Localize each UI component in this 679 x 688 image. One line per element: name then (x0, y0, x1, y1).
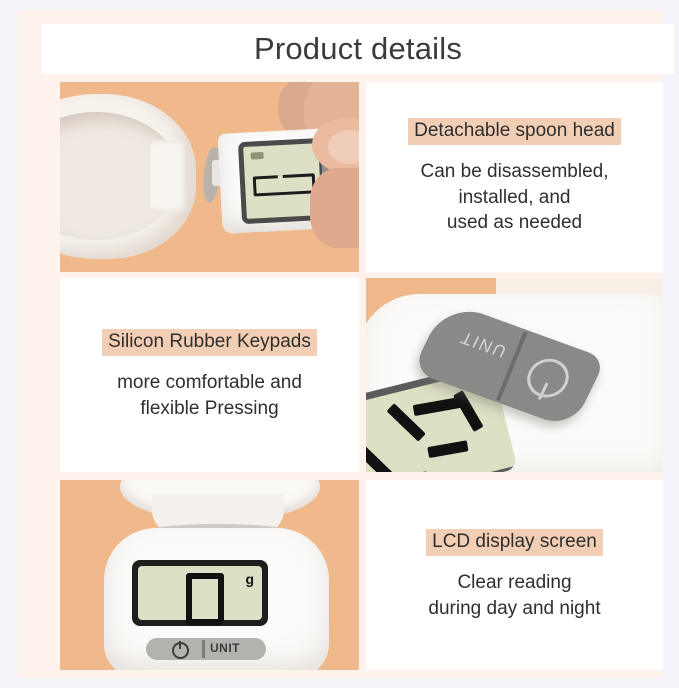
content-card: Product details Detachable (18, 10, 662, 678)
power-icon-bar (538, 383, 549, 400)
panel-1-body: Can be disassembled, installed, and used… (421, 159, 609, 236)
panel-3-heading: LCD display screen (426, 529, 603, 556)
panel-3-photo-lcd-display: g UNIT (60, 480, 359, 670)
lcd-segment (366, 444, 395, 472)
panel-2-heading: Silicon Rubber Keypads (102, 329, 317, 356)
lcd-dash-segments (253, 173, 316, 196)
palm (310, 168, 359, 248)
power-icon-bar (179, 641, 181, 649)
lcd-segment (453, 390, 484, 432)
panel-2-text: Silicon Rubber Keypads more comfortable … (60, 278, 359, 472)
keypad-bar: UNIT (146, 638, 266, 660)
lcd-indicator-icon (250, 152, 263, 160)
panel-1-heading: Detachable spoon head (408, 118, 621, 145)
lcd-segment (389, 471, 428, 472)
power-icon (520, 353, 575, 403)
panel-2-photo-rubber-keypad: UNIT (366, 278, 663, 472)
panel-1-body-line-2: installed, and (421, 185, 609, 211)
panel-3-body: Clear reading during day and night (428, 570, 600, 621)
lcd-dash-gap (278, 175, 284, 189)
panel-1-text: Detachable spoon head Can be disassemble… (366, 82, 663, 272)
title-band: Product details (42, 24, 674, 74)
lcd-segment (427, 440, 468, 458)
lcd-unit-gram: g (245, 571, 254, 587)
panel-2-body-line-2: flexible Pressing (117, 396, 302, 422)
spoon-bowl-connector-tab (150, 140, 188, 212)
panel-3-body-line-2: during day and night (428, 596, 600, 622)
panel-1-body-line-1: Can be disassembled, (421, 159, 609, 185)
panel-1-body-line-3: used as needed (421, 210, 609, 236)
lcd-screen-panel-3: g (138, 566, 262, 620)
unit-button-label: UNIT (210, 641, 240, 655)
infographic-page: Product details Detachable (0, 0, 679, 688)
power-icon (172, 642, 189, 659)
panel-2-body: more comfortable and flexible Pressing (117, 370, 302, 421)
page-title: Product details (42, 24, 674, 74)
lcd-digit-zero (186, 573, 224, 625)
keypad-divider (202, 640, 205, 658)
panel-3-body-line-1: Clear reading (428, 570, 600, 596)
panel-2-body-line-1: more comfortable and (117, 370, 302, 396)
lcd-bezel-panel-3: g (132, 560, 268, 626)
panel-1-photo-detachable-spoon-head (60, 82, 359, 272)
panel-3-text: LCD display screen Clear reading during … (366, 480, 663, 670)
